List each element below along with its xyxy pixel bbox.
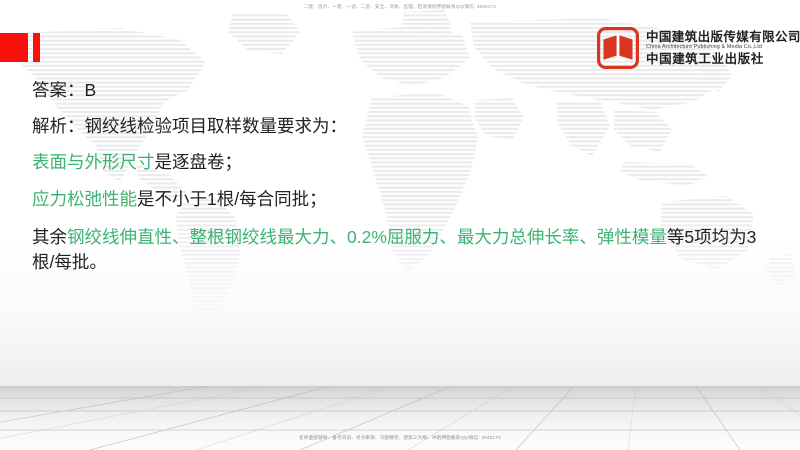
publisher-company-cn: 中国建筑出版传媒有限公司 bbox=[646, 31, 800, 44]
answer-label: 答案： bbox=[32, 80, 85, 100]
sampling-item-1-term: 表面与外形尺寸 bbox=[32, 152, 155, 172]
analysis-line: 解析：钢绞线检验项目取样数量要求为： bbox=[32, 118, 777, 136]
sampling-item-2: 应力松弛性能是不小于1根/每合同批； bbox=[32, 191, 777, 209]
red-flag-bar bbox=[33, 33, 40, 62]
sampling-item-3-terms: 钢绞线伸直性、整根钢绞线最大力、0.2%屈服力、最大力总伸长率、弹性模量 bbox=[67, 227, 667, 247]
publisher-logo: 中国建筑出版传媒有限公司 China Architecture Publishi… bbox=[597, 25, 793, 71]
publisher-logo-text: 中国建筑出版传媒有限公司 China Architecture Publishi… bbox=[646, 31, 800, 65]
sampling-item-3: 其余钢绞线伸直性、整根钢绞线最大力、0.2%屈服力、最大力总伸长率、弹性模量等5… bbox=[32, 225, 777, 276]
sampling-item-2-term: 应力松弛性能 bbox=[32, 189, 137, 209]
publisher-company-en: China Architecture Publishing & Media Co… bbox=[646, 45, 800, 50]
slide-canvas: 二建、造价、一建、一造、二造、安全、消防、监理、检测课程押题联系QQ/微信: 3… bbox=[0, 0, 800, 450]
analysis-label: 解析： bbox=[32, 116, 85, 136]
publisher-logo-icon bbox=[597, 27, 639, 69]
red-flag-decoration bbox=[0, 33, 42, 62]
red-flag-block bbox=[0, 33, 28, 62]
answer-line: 答案：B bbox=[32, 82, 777, 100]
analysis-text: 钢绞线检验项目取样数量要求为： bbox=[85, 116, 348, 136]
sampling-item-1-rest: 是逐盘卷； bbox=[155, 152, 243, 172]
sampling-item-2-rest: 是不小于1根/每合同批； bbox=[137, 189, 327, 209]
sampling-item-3-prefix: 其余 bbox=[32, 227, 67, 247]
sampling-item-1: 表面与外形尺寸是逐盘卷； bbox=[32, 154, 777, 172]
publisher-press-cn: 中国建筑工业出版社 bbox=[646, 53, 800, 66]
watermark-top: 二建、造价、一建、一造、二造、安全、消防、监理、检测课程押题联系QQ/微信: 3… bbox=[0, 4, 800, 10]
slide-content: 答案：B 解析：钢绞线检验项目取样数量要求为： 表面与外形尺寸是逐盘卷； 应力松… bbox=[32, 82, 777, 276]
answer-value: B bbox=[85, 80, 97, 100]
watermark-bottom: 名师面授辅导、备考内训、考点串讲、习题精考、建筑三大纲、冲刺押题联系QQ/微信:… bbox=[0, 435, 800, 441]
